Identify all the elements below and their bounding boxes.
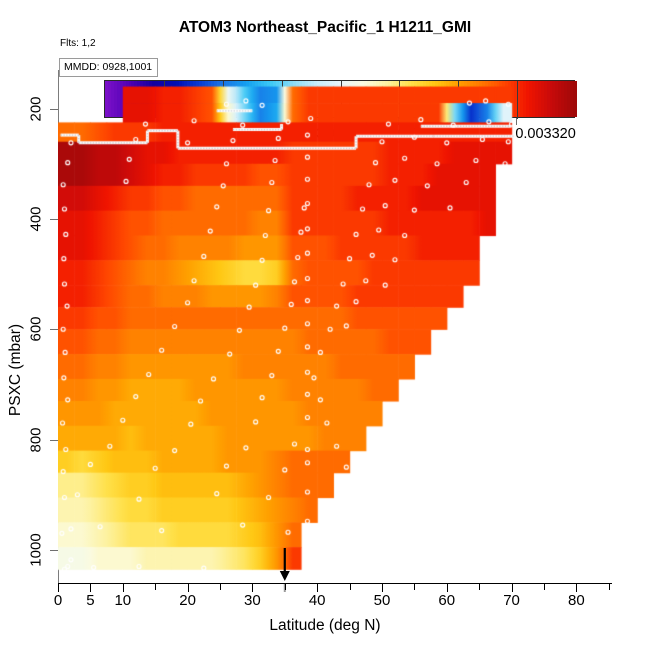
x-axis-tick [447, 584, 448, 592]
y-axis-tick-label: 200 [28, 96, 45, 121]
x-axis-tick-label: 5 [86, 592, 94, 609]
y-axis-tick [50, 219, 58, 220]
y-axis-tick [50, 550, 58, 551]
x-axis-tick [382, 584, 383, 592]
x-axis-tick-label: 60 [438, 592, 455, 609]
y-axis-tick [50, 109, 58, 110]
x-axis-tick-label: 80 [568, 592, 585, 609]
y-axis-tick [50, 329, 58, 330]
x-axis-tick [512, 584, 513, 592]
x-axis-tick [252, 584, 253, 592]
y-axis-tick-label: 800 [28, 427, 45, 452]
x-axis-minor-tick [350, 584, 351, 590]
x-axis-tick [576, 584, 577, 592]
y-axis-tick [50, 440, 58, 441]
x-axis-tick-label: 30 [244, 592, 261, 609]
x-axis-tick-label: 40 [309, 592, 326, 609]
y-axis-tick-label: 400 [28, 206, 45, 231]
x-axis-tick-label: 70 [503, 592, 520, 609]
x-axis-minor-tick [609, 584, 610, 590]
x-axis-minor-tick [220, 584, 221, 590]
x-axis-minor-tick [285, 584, 286, 590]
x-axis-minor-tick [544, 584, 545, 590]
x-axis-minor-tick [155, 584, 156, 590]
x-axis-tick [90, 584, 91, 592]
x-axis-tick-label: 0 [54, 592, 62, 609]
latitude-marker-arrow [0, 0, 650, 650]
x-axis-tick-label: 20 [179, 592, 196, 609]
x-axis-minor-tick [479, 584, 480, 590]
plot-window: ATOM3 Northeast_Pacific_1 H1211_GMI Flts… [0, 0, 650, 650]
y-axis-tick-label: 600 [28, 317, 45, 342]
x-axis-minor-tick [414, 584, 415, 590]
x-axis-tick [58, 584, 59, 592]
x-axis-tick [317, 584, 318, 592]
x-axis-tick-label: 50 [374, 592, 391, 609]
x-axis-tick [123, 584, 124, 592]
y-axis-tick-label: 1000 [28, 533, 45, 566]
x-axis-tick-label: 10 [114, 592, 131, 609]
x-axis-tick [188, 584, 189, 592]
